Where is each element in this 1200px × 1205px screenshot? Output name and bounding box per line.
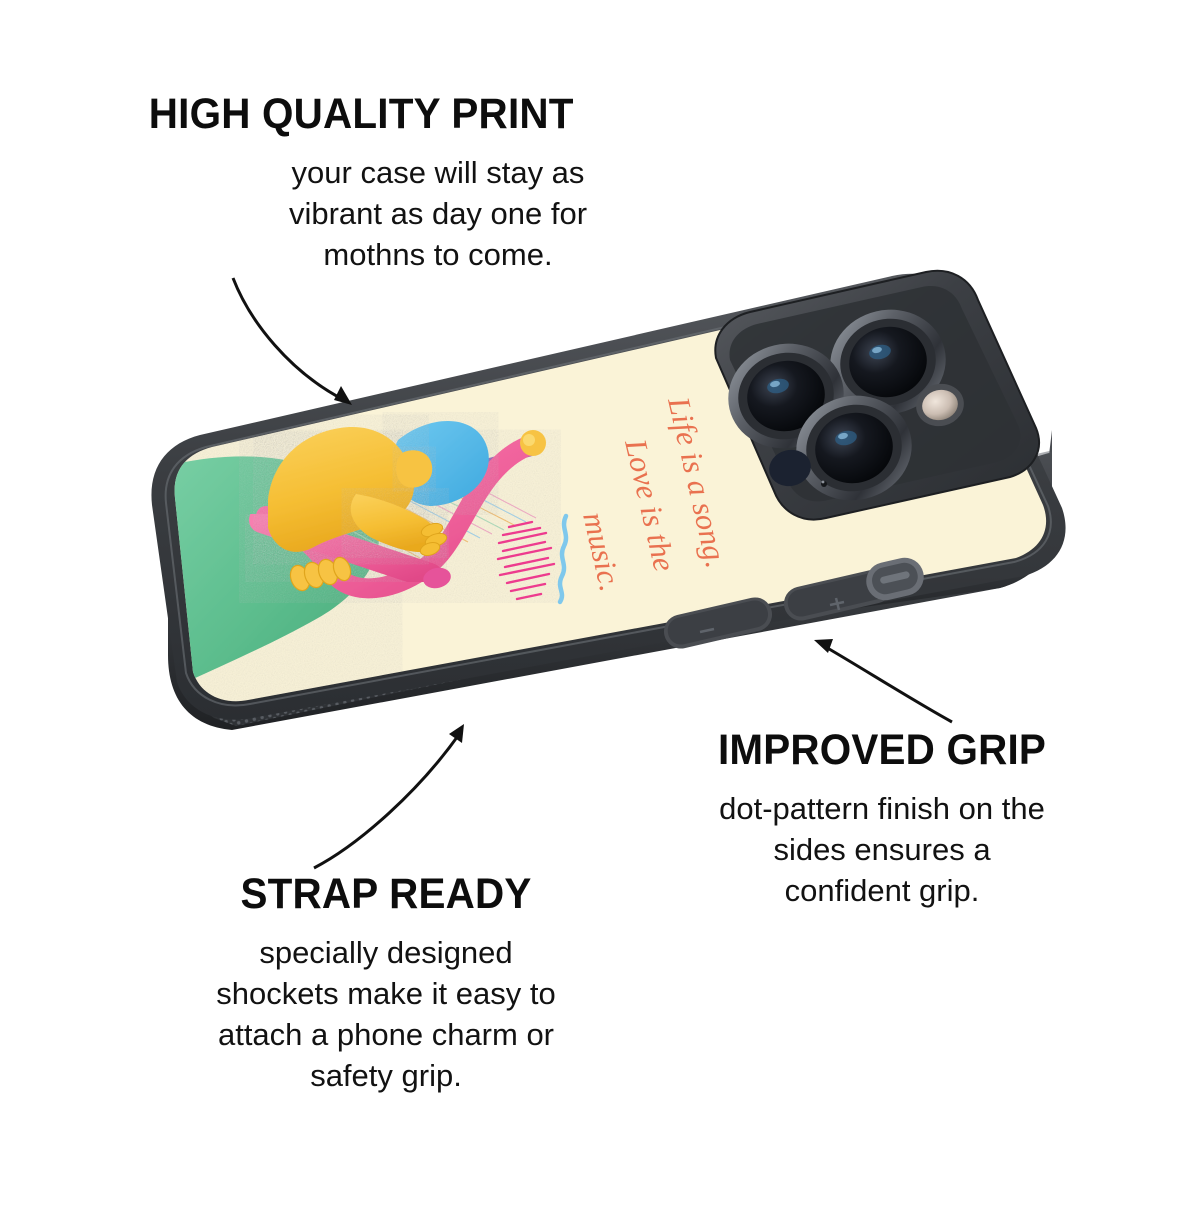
feature-body-line: confident grip.	[652, 871, 1112, 912]
feature-body: specially designed shockets make it easy…	[96, 933, 676, 1097]
feature-body-line: dot-pattern finish on the	[652, 789, 1112, 830]
feature-body-line: attach a phone charm or	[96, 1015, 676, 1056]
feature-body-line: safety grip.	[96, 1056, 676, 1097]
feature-body-line: specially designed	[96, 933, 676, 974]
arrow-to-grip	[814, 639, 952, 722]
feature-high-quality-print: HIGH QUALITY PRINT your case will stay a…	[132, 92, 692, 276]
feature-title: STRAP READY	[113, 872, 658, 917]
feature-improved-grip: IMPROVED GRIP dot-pattern finish on the …	[652, 728, 1112, 912]
feature-body: dot-pattern finish on the sides ensures …	[652, 789, 1112, 912]
feature-title: HIGH QUALITY PRINT	[149, 92, 675, 137]
feature-title: IMPROVED GRIP	[666, 728, 1098, 773]
arrow-to-print	[233, 278, 352, 405]
feature-body: your case will stay as vibrant as day on…	[132, 153, 692, 276]
feature-body-line: your case will stay as	[184, 153, 692, 194]
feature-body-line: mothns to come.	[184, 235, 692, 276]
feature-body-line: vibrant as day one for	[184, 194, 692, 235]
feature-strap-ready: STRAP READY specially designed shockets …	[96, 872, 676, 1097]
feature-body-line: sides ensures a	[652, 830, 1112, 871]
arrow-to-strap	[314, 724, 464, 868]
feature-body-line: shockets make it easy to	[96, 974, 676, 1015]
